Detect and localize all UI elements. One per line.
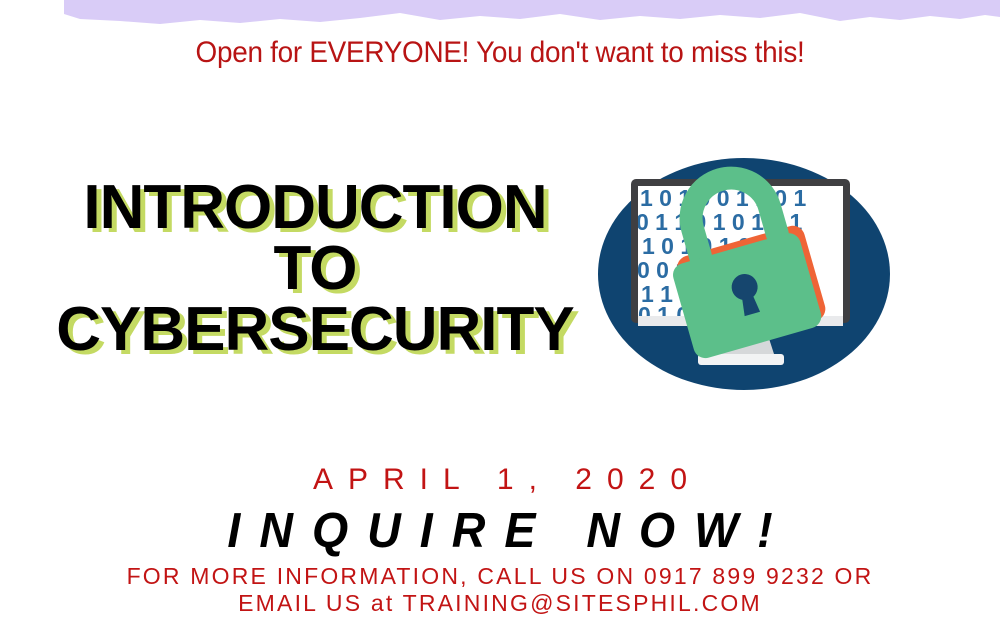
tagline: Open for EVERYONE! You don't want to mis… xyxy=(35,36,965,70)
page-title: INTRODUCTION TO CYBERSECURITY xyxy=(50,178,580,360)
contact-info: FOR MORE INFORMATION, CALL US ON 0917 89… xyxy=(0,563,1000,617)
title-line-3: CYBERSECURITY xyxy=(50,300,580,361)
torn-paper-shape xyxy=(0,0,1000,26)
inquire-now-cta[interactable]: INQUIRE NOW! xyxy=(25,503,975,559)
contact-line-email: EMAIL US at TRAINING@SITESPHIL.COM xyxy=(0,590,1000,617)
event-date: APRIL 1, 2020 xyxy=(0,463,1000,497)
top-torn-paper-banner xyxy=(0,0,1000,26)
banner-fill xyxy=(64,0,1000,24)
title-line-2: TO xyxy=(50,239,580,300)
cybersecurity-illustration: 1 0 1 0 0 1 1 0 1 0 1 1 0 1 0 1 0 1 1 0 … xyxy=(598,158,890,390)
title-line-1: INTRODUCTION xyxy=(50,178,580,239)
contact-line-phone: FOR MORE INFORMATION, CALL US ON 0917 89… xyxy=(0,563,1000,590)
